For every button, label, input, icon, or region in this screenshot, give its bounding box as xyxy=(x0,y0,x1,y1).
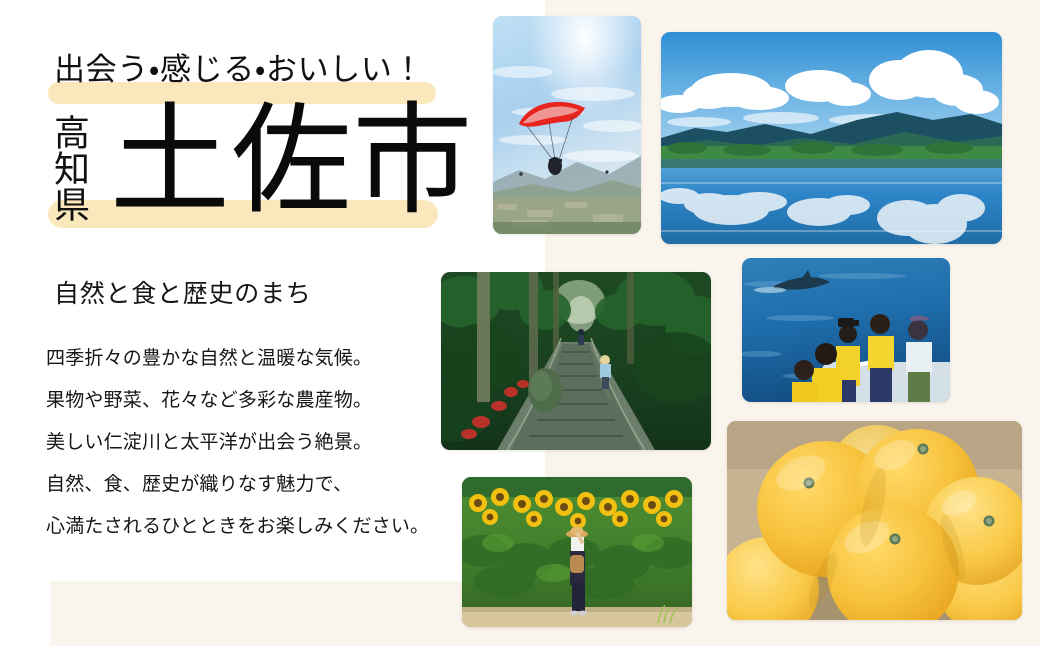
whale-watching-photo xyxy=(742,258,950,402)
body-line: 四季折々の豊かな自然と温暖な気候。 xyxy=(46,338,446,380)
river-reflection-photo xyxy=(661,32,1002,244)
tagline-text: 出会う・感じる・おいしい！ xyxy=(54,48,424,92)
body-line: 心満たされるひとときをお楽しみください。 xyxy=(46,506,446,548)
sunflower-field-photo xyxy=(462,477,692,627)
city-title-block: 高知県 土佐市 xyxy=(48,108,448,238)
city-name: 土佐市 xyxy=(110,92,474,232)
body-text: 四季折々の豊かな自然と温暖な気候。 果物や野菜、花々など多彩な農産物。 美しい仁… xyxy=(46,338,446,548)
paraglider-photo xyxy=(493,16,641,234)
body-line: 果物や野菜、花々など多彩な農産物。 xyxy=(46,380,446,422)
tosa-city-poster: 出会う・感じる・おいしい！ 高知県 土佐市 自然と食と歴史のまち 四季折々の豊か… xyxy=(0,0,1040,646)
body-line: 自然、食、歴史が織りなす魅力で、 xyxy=(46,464,446,506)
citrus-fruit-photo xyxy=(727,421,1022,620)
sub-headline: 自然と食と歴史のまち xyxy=(54,278,312,312)
prefecture-label: 高知県 xyxy=(50,114,88,222)
forest-bridge-photo xyxy=(441,272,711,450)
body-line: 美しい仁淀川と太平洋が出会う絶景。 xyxy=(46,422,446,464)
